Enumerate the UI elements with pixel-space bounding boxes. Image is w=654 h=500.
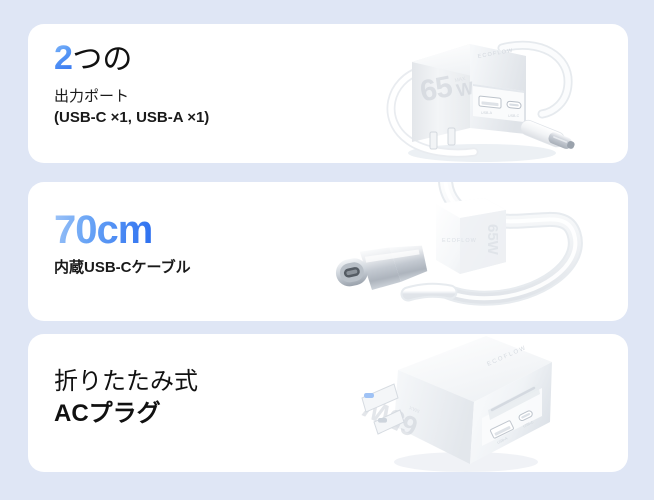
card-1-sub-block: 出力ポート (USB-C ×1, USB-A ×1) — [54, 86, 209, 130]
card-2-sub-block: 内蔵USB-Cケーブル — [54, 257, 191, 279]
card-3-text-block: 折りたたみ式 ACプラグ — [54, 366, 198, 431]
svg-text:65W: 65W — [359, 392, 423, 443]
svg-text:MAX: MAX — [408, 404, 421, 414]
svg-text:W: W — [455, 78, 476, 101]
card-1-sub-line-1: 出力ポート — [54, 86, 209, 108]
svg-text:ECOFLOW: ECOFLOW — [477, 48, 514, 60]
card-1-headline: 2つの — [54, 41, 209, 77]
card-2-sub-line-1: 内蔵USB-Cケーブル — [54, 257, 191, 279]
svg-text:USB-A: USB-A — [497, 436, 509, 445]
card-1-sub-line-2: (USB-C ×1, USB-A ×1) — [54, 107, 209, 129]
card-1-text-block: 2つの 出力ポート (USB-C ×1, USB-A ×1) — [54, 41, 209, 129]
svg-text:USB-A: USB-A — [481, 111, 493, 115]
card-3-line-2: ACプラグ — [54, 398, 198, 430]
usb-c-connector-with-coiled-cable-image: ECOFLOW 65W — [322, 182, 622, 321]
svg-text:USB-C: USB-C — [508, 114, 520, 118]
svg-text:65W: 65W — [484, 224, 501, 256]
feature-card-builtin-cable: ECOFLOW 65W — [28, 182, 628, 321]
card-1-headline-suffix: つの — [72, 43, 132, 76]
svg-text:65: 65 — [417, 70, 454, 108]
svg-text:ECOFLOW: ECOFLOW — [486, 345, 528, 368]
card-2-headline-number: 70cm — [54, 208, 152, 252]
charger-folding-ac-plug-image: ECOFLOW 65W MAX USB-A US — [338, 334, 588, 472]
card-1-headline-number: 2 — [54, 39, 72, 77]
card-2-text-block: 70cm 内蔵USB-Cケーブル — [54, 210, 191, 279]
charger-with-ports-and-cable-image: 65 W MAX ECOFLOW U — [374, 24, 604, 163]
feature-card-folding-ac-plug: ECOFLOW 65W MAX USB-A US — [28, 334, 628, 472]
feature-card-output-ports: 65 W MAX ECOFLOW U — [28, 24, 628, 163]
svg-text:MAX: MAX — [454, 76, 466, 84]
card-3-line-1: 折りたたみ式 — [54, 366, 198, 398]
card-2-headline: 70cm — [54, 210, 191, 250]
svg-text:ECOFLOW: ECOFLOW — [442, 238, 477, 244]
feature-cards-page: 65 W MAX ECOFLOW U — [0, 0, 654, 500]
svg-text:USB-C: USB-C — [522, 420, 534, 429]
